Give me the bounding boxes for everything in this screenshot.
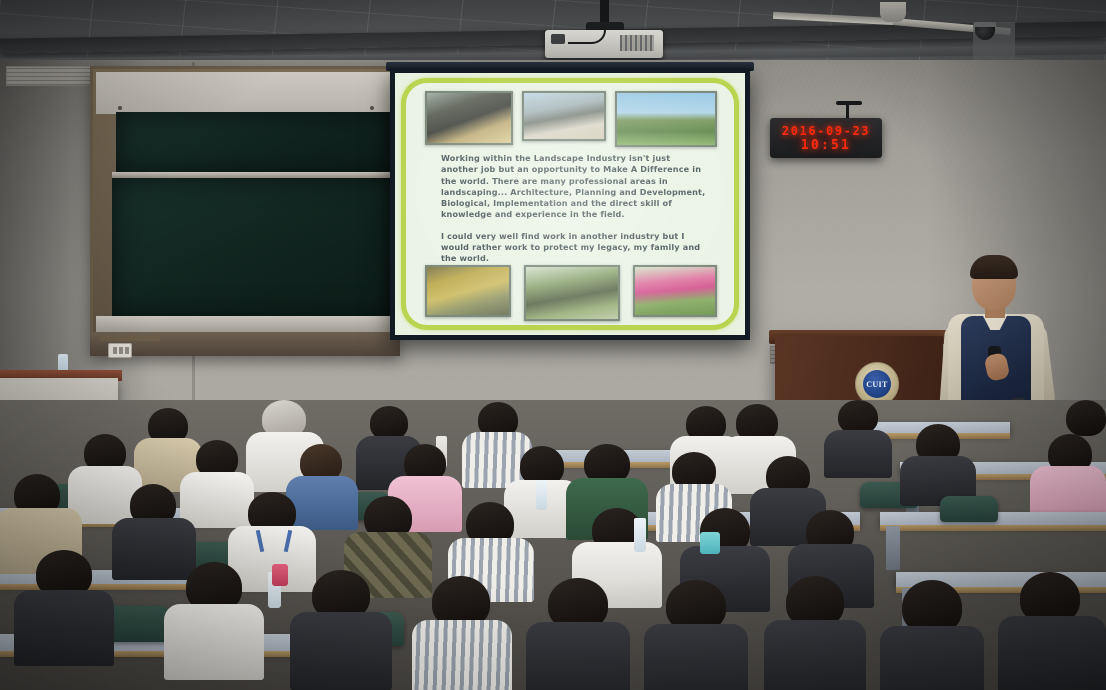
audience-body (14, 590, 114, 666)
photo-building-entrance-landscape (522, 91, 606, 141)
teal-cup (700, 532, 720, 554)
slide-paragraph-2: I could very well find work in another i… (441, 231, 706, 265)
audience-body (644, 624, 748, 690)
audience-head (838, 400, 878, 434)
chair-back (940, 496, 998, 522)
photo-garden-pergola (524, 265, 620, 321)
audience-body (880, 626, 984, 690)
led-wall-clock: 2016-09-23 10:51 (770, 118, 882, 158)
audience-body (286, 476, 358, 530)
audience-body (180, 472, 254, 528)
clock-antenna (836, 101, 862, 105)
ceiling-fan-hub (880, 2, 906, 22)
chalk-tray (96, 316, 396, 332)
lecture-hall-scene: Working within the Landscape Industry is… (0, 0, 1106, 690)
outlet-trim (100, 336, 160, 341)
wall-power-outlet[interactable] (108, 343, 132, 358)
pink-pouch (272, 564, 288, 586)
audience-body (290, 612, 392, 690)
audience-body (764, 620, 866, 690)
chalkboard-screw (370, 106, 374, 110)
clock-time: 10:51 (801, 138, 851, 153)
audience-head (370, 406, 408, 440)
audience-body (164, 604, 264, 680)
chalkboard-screw (118, 106, 122, 110)
slide-photo-row-top (425, 91, 717, 147)
slide-paragraph-1: Working within the Landscape Industry is… (441, 153, 706, 221)
desk-side-panel (886, 526, 900, 570)
cuit-emblem-globe: CUIT (863, 370, 891, 398)
slide-photo-row-bottom (425, 265, 717, 321)
audience-area (0, 400, 1106, 690)
photo-retaining-wall-construction (425, 91, 513, 145)
projected-slide: Working within the Landscape Industry is… (395, 73, 745, 335)
slide-body-text: Working within the Landscape Industry is… (441, 153, 706, 265)
photo-sprinkler-flowers (633, 265, 717, 317)
projector-vent (620, 35, 654, 51)
photo-green-vertical-building (615, 91, 717, 147)
chalkboard-panel-lower (112, 178, 396, 316)
audience-body (412, 620, 512, 690)
audience-body (824, 430, 892, 478)
water-bottle (536, 480, 547, 510)
cuit-emblem-text: CUIT (866, 380, 888, 389)
audience-body (526, 622, 630, 690)
water-bottle (634, 518, 646, 552)
photo-landscaper-working (425, 265, 511, 317)
presenter-hair (970, 255, 1018, 279)
audience-head (1066, 400, 1106, 436)
audience-body (112, 518, 196, 580)
chalkboard-top-strip (96, 72, 393, 114)
clock-date: 2016-09-23 (782, 124, 870, 138)
audience-body (998, 616, 1106, 690)
projector-lens (551, 34, 565, 44)
chalkboard-panel-upper (116, 112, 396, 174)
